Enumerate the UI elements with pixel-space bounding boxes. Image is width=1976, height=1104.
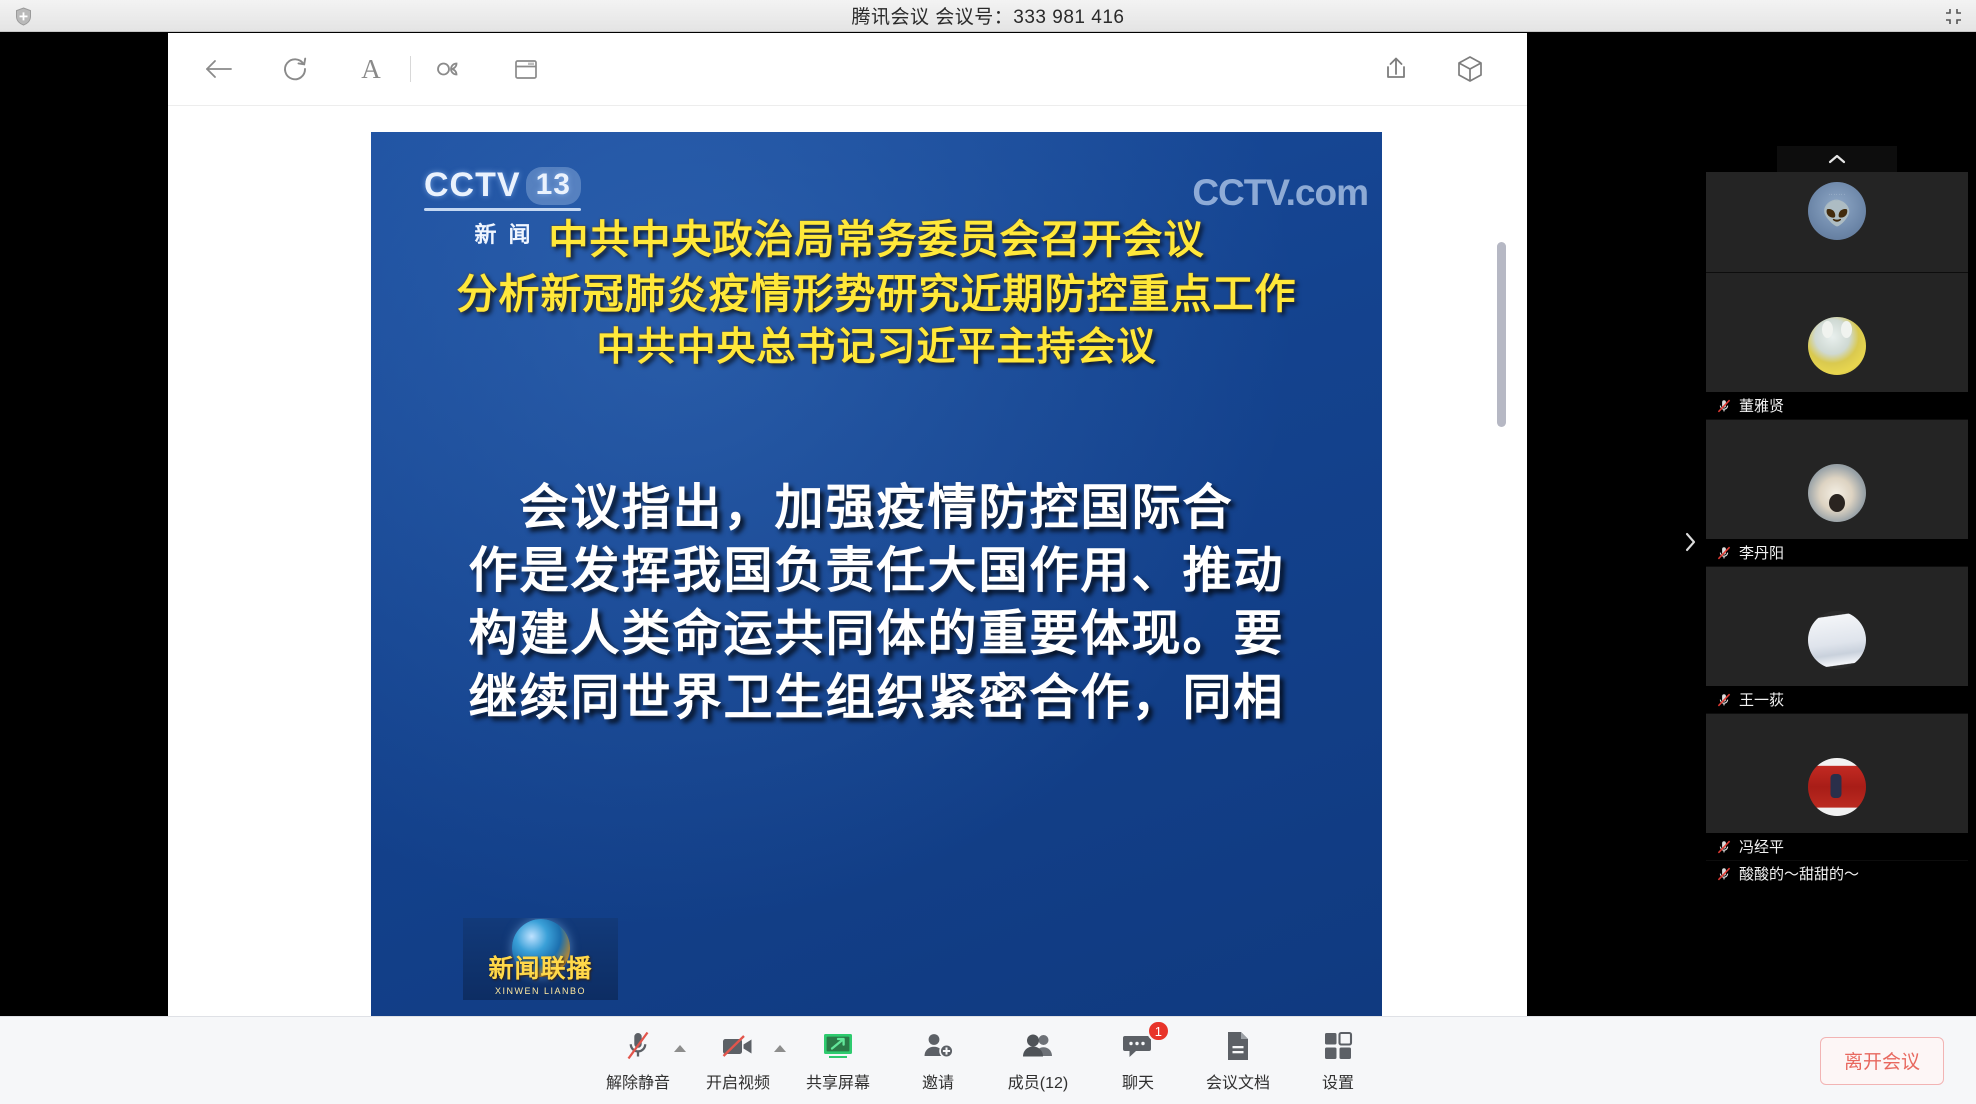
sidebar-scroll-up-button[interactable]	[1777, 146, 1897, 172]
avatar	[1808, 758, 1866, 816]
participant-name: 董雅贤	[1739, 395, 1784, 416]
share-screen-button[interactable]: 共享屏幕	[788, 1017, 888, 1104]
content-scrollbar[interactable]	[1497, 132, 1506, 1016]
participant-tile[interactable]: 董雅贤	[1706, 272, 1968, 419]
shield-icon[interactable]	[10, 4, 36, 28]
document-icon	[1223, 1029, 1253, 1063]
cctv-logo-text: CCTV	[424, 166, 521, 205]
cctv-channel-number: 13	[526, 167, 581, 205]
participant-tile[interactable]: 李丹阳	[1706, 419, 1968, 566]
participant-name: 酸酸的～甜甜的～	[1739, 863, 1859, 884]
meeting-controls-bar: 解除静音 开启视频	[0, 1016, 1976, 1104]
participant-tile[interactable]: ······· 👽	[1706, 172, 1968, 272]
headline-line-3: 中共中央总书记习近平主持会议	[371, 322, 1382, 374]
mic-muted-icon	[1716, 398, 1732, 414]
avatar	[1808, 464, 1866, 522]
body-line-4: 继续同世界卫生组织紧密合作，同相	[371, 667, 1382, 730]
avatar-detail	[1830, 774, 1841, 798]
participant-tile[interactable]: 酸酸的～甜甜的～	[1706, 860, 1968, 887]
scrollbar-thumb[interactable]	[1497, 242, 1506, 427]
unmute-label: 解除静音	[606, 1069, 670, 1093]
headline-line-2: 分析新冠肺炎疫情形势研究近期防控重点工作	[371, 267, 1382, 322]
program-logo-en: XINWEN LIANBO	[495, 986, 586, 996]
avatar	[1808, 611, 1866, 669]
shared-content-panel: A	[168, 33, 1527, 1016]
participant-label: 李丹阳	[1706, 539, 1968, 566]
participant-name: 王一荻	[1739, 689, 1784, 710]
participant-name: 冯经平	[1739, 836, 1784, 857]
cctv-com-watermark: CCTV.com	[1192, 172, 1368, 214]
chat-button[interactable]: 1 聊天	[1088, 1017, 1188, 1104]
participant-label: 冯经平	[1706, 833, 1968, 860]
news-body-text: 会议指出，加强疫情防控国际合 作是发挥我国负责任大国作用、推动 构建人类命运共同…	[371, 477, 1382, 730]
invite-button[interactable]: 邀请	[888, 1017, 988, 1104]
settings-label: 设置	[1322, 1069, 1354, 1093]
participant-label: 酸酸的～甜甜的～	[1706, 860, 1968, 887]
mic-muted-icon	[1716, 545, 1732, 561]
exit-fullscreen-icon[interactable]	[1940, 4, 1966, 28]
participant-tile[interactable]: 王一荻	[1706, 566, 1968, 713]
shared-video-viewport[interactable]: CCTV 13 新闻 CCTV.com 中共中央政治局常务委员会召开会议 分析新…	[203, 132, 1473, 1016]
participants-icon	[1020, 1029, 1056, 1063]
chat-unread-badge: 1	[1147, 1020, 1170, 1042]
unmute-button[interactable]: 解除静音	[588, 1017, 688, 1104]
cube-icon[interactable]	[1443, 42, 1497, 96]
xinwen-lianbo-logo: 新闻联播 XINWEN LIANBO	[463, 918, 618, 1000]
window-titlebar: 腾讯会议 会议号：333 981 416	[0, 0, 1976, 32]
font-size-icon[interactable]: A	[344, 42, 398, 96]
mic-muted-icon	[1716, 692, 1732, 708]
astronaut-icon: 👽	[1822, 200, 1852, 229]
cctv-underline	[424, 208, 581, 211]
share-screen-icon	[821, 1029, 855, 1063]
back-arrow-icon[interactable]	[192, 42, 246, 96]
meeting-docs-button[interactable]: 会议文档	[1188, 1017, 1288, 1104]
chat-label: 聊天	[1122, 1069, 1154, 1093]
meeting-docs-label: 会议文档	[1206, 1069, 1270, 1093]
chat-icon: 1	[1121, 1029, 1155, 1063]
participant-sidebar: ······· 👽 董雅贤	[1706, 172, 1968, 752]
start-video-label: 开启视频	[706, 1069, 770, 1093]
page-title: 腾讯会议 会议号：333 981 416	[852, 2, 1125, 29]
participants-button[interactable]: 成员(12)	[988, 1017, 1088, 1104]
video-options-caret[interactable]	[774, 1045, 786, 1052]
video-off-icon	[720, 1029, 756, 1063]
sidebar-collapse-toggle[interactable]	[1678, 522, 1702, 562]
refresh-icon[interactable]	[268, 42, 322, 96]
avatar-detail	[1822, 321, 1833, 338]
mic-muted-icon	[623, 1029, 653, 1063]
invite-user-icon	[921, 1029, 955, 1063]
program-logo-cn: 新闻联播	[488, 949, 592, 985]
body-line-3: 构建人类命运共同体的重要体现。要	[371, 603, 1382, 666]
audio-options-caret[interactable]	[674, 1045, 686, 1052]
toolbar-divider	[410, 56, 411, 82]
participants-label: 成员(12)	[1008, 1069, 1068, 1093]
avatar	[1808, 317, 1866, 375]
mic-muted-icon	[1716, 866, 1732, 882]
participant-tile[interactable]: 冯经平	[1706, 713, 1968, 860]
meeting-window: 腾讯会议 会议号：333 981 416	[0, 0, 1976, 1104]
headline-line-1: 中共中央政治局常务委员会召开会议	[371, 214, 1382, 267]
avatar-caption: ·······	[1828, 192, 1846, 198]
settings-button[interactable]: 设置	[1288, 1017, 1388, 1104]
body-line-2: 作是发挥我国负责任大国作用、推动	[371, 540, 1382, 603]
shared-video-frame: CCTV 13 新闻 CCTV.com 中共中央政治局常务委员会召开会议 分析新…	[371, 132, 1382, 1016]
content-toolbar: A	[168, 33, 1527, 106]
share-icon[interactable]	[1369, 42, 1423, 96]
font-size-label: A	[361, 54, 381, 85]
leave-meeting-button[interactable]: 离开会议	[1820, 1037, 1944, 1085]
mic-muted-icon	[1716, 839, 1732, 855]
avatar: ······· 👽	[1808, 182, 1866, 240]
participant-label: 董雅贤	[1706, 392, 1968, 419]
settings-grid-icon	[1323, 1029, 1353, 1063]
participant-name: 李丹阳	[1739, 542, 1784, 563]
layout-icon[interactable]	[499, 42, 553, 96]
news-headline: 中共中央政治局常务委员会召开会议 分析新冠肺炎疫情形势研究近期防控重点工作 中共…	[371, 214, 1382, 374]
participant-label: 王一荻	[1706, 686, 1968, 713]
start-video-button[interactable]: 开启视频	[688, 1017, 788, 1104]
link-icon[interactable]	[423, 42, 477, 96]
body-line-1: 会议指出，加强疫情防控国际合	[371, 477, 1382, 540]
invite-label: 邀请	[922, 1069, 954, 1093]
share-screen-label: 共享屏幕	[806, 1069, 870, 1093]
avatar-detail	[1829, 494, 1845, 512]
avatar-detail	[1841, 321, 1852, 338]
